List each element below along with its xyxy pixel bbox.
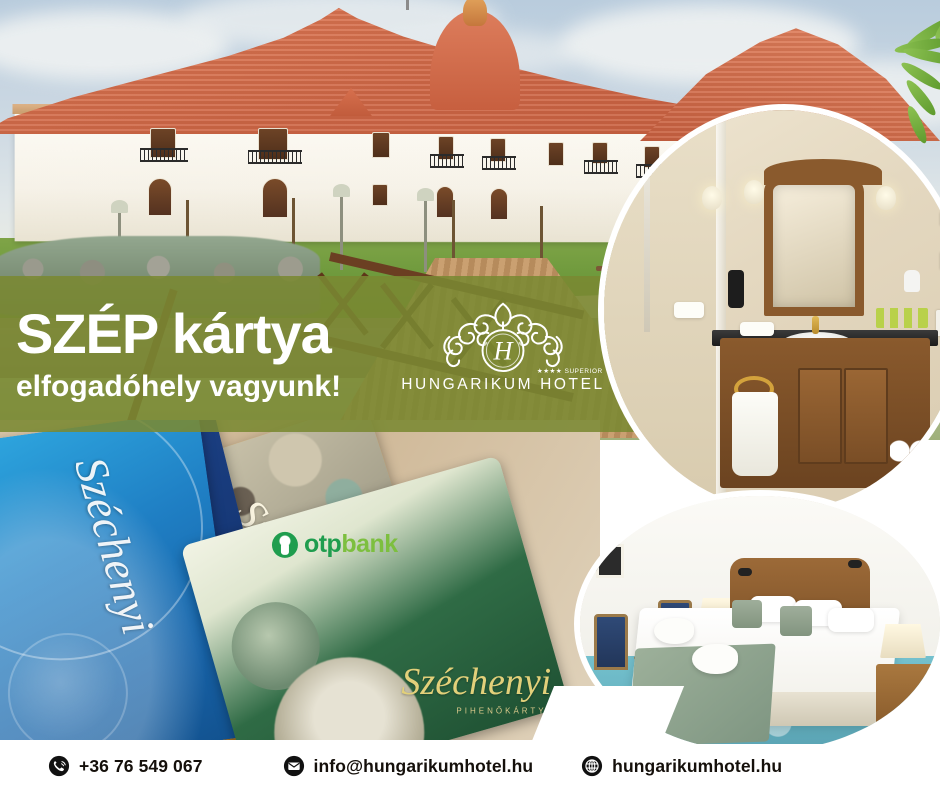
otp-bank-logo: otpbank xyxy=(272,530,398,559)
bathrobe xyxy=(654,618,694,644)
phone-icon xyxy=(48,755,70,777)
window xyxy=(372,184,388,206)
globe-icon xyxy=(581,755,603,777)
cushion xyxy=(780,606,812,636)
balcony xyxy=(140,148,188,162)
towel-rolls xyxy=(890,440,932,462)
hotel-logo: H HUNGARIKUM HOTEL ★★★★ SUPERIOR xyxy=(408,296,598,414)
contact-phone[interactable]: +36 76 549 067 xyxy=(48,755,203,777)
contact-email[interactable]: info@hungarikumhotel.hu xyxy=(283,755,534,777)
banner-headline: SZÉP kártya xyxy=(16,305,341,362)
mail-icon xyxy=(283,755,305,777)
logo-name-text: HUNGARIKUM HOTEL xyxy=(401,376,605,393)
wall-sconce xyxy=(594,524,618,530)
szep-cards-photo: Széchenyi MKB PIHENŐKÁRTYA Széchenyi otp… xyxy=(0,420,600,740)
window xyxy=(372,132,390,158)
contact-website-text: hungarikumhotel.hu xyxy=(612,756,782,777)
tree xyxy=(156,160,222,242)
vanity-door xyxy=(798,368,842,464)
roof-spire xyxy=(406,0,409,10)
reading-lamp xyxy=(738,568,752,576)
pillow xyxy=(828,608,874,632)
folded-towel xyxy=(740,322,774,336)
otp-logo-text-bank: bank xyxy=(341,530,397,558)
reading-lamp xyxy=(848,560,862,568)
otp-logo-text-otp: otp xyxy=(304,530,341,558)
otp-logo-text: otpbank xyxy=(304,530,398,559)
bathroom-photo xyxy=(604,110,940,510)
armchair xyxy=(594,614,628,670)
logo-monogram: H xyxy=(492,336,514,365)
bathrobe xyxy=(692,644,738,674)
poster-root: Széchenyi MKB PIHENŐKÁRTYA Széchenyi otp… xyxy=(0,0,940,788)
tree xyxy=(258,152,330,240)
soap-dispenser xyxy=(728,270,744,308)
contact-email-text: info@hungarikumhotel.hu xyxy=(314,756,534,777)
otp-logo-mark xyxy=(272,531,298,557)
hanging-towel xyxy=(732,392,778,476)
framed-picture xyxy=(596,544,624,578)
tree xyxy=(512,168,570,240)
card-script-text: Széchenyi xyxy=(402,660,552,704)
wall-lamp xyxy=(876,186,896,210)
wall-lamp xyxy=(744,180,764,204)
banner-subheadline: elfogadóhely vagyunk! xyxy=(16,370,341,403)
logo-hotel-name: HUNGARIKUM HOTEL ★★★★ SUPERIOR xyxy=(401,376,605,394)
contact-website[interactable]: hungarikumhotel.hu xyxy=(581,755,782,777)
card-sub-label: PIHENŐKÁRTYA xyxy=(456,706,554,715)
faucet xyxy=(812,316,819,334)
wall-lamp xyxy=(702,186,722,210)
bathroom-mirror xyxy=(764,176,864,316)
vanity-door xyxy=(844,368,888,464)
ground-floor-door xyxy=(490,188,508,220)
banner-text-block: SZÉP kártya elfogadóhely vagyunk! xyxy=(0,305,341,403)
toiletry-bottles xyxy=(876,308,928,328)
table-lamp xyxy=(880,624,926,658)
floral-ornament-icon: H xyxy=(410,296,596,374)
cushion xyxy=(732,600,762,628)
contact-bar: +36 76 549 067 info@hungarikumhotel.hu h… xyxy=(0,744,940,788)
folded-towel xyxy=(674,302,704,318)
balcony xyxy=(482,156,516,170)
szep-card-banner: SZÉP kártya elfogadóhely vagyunk! xyxy=(0,276,640,432)
logo-star-rating: ★★★★ SUPERIOR xyxy=(537,367,603,375)
hairdryer xyxy=(904,270,920,292)
nightstand xyxy=(876,664,938,726)
window xyxy=(548,142,564,166)
tree xyxy=(420,156,488,240)
shower-rail xyxy=(644,172,650,332)
dome-finial xyxy=(463,0,487,26)
contact-phone-text: +36 76 549 067 xyxy=(79,756,203,777)
